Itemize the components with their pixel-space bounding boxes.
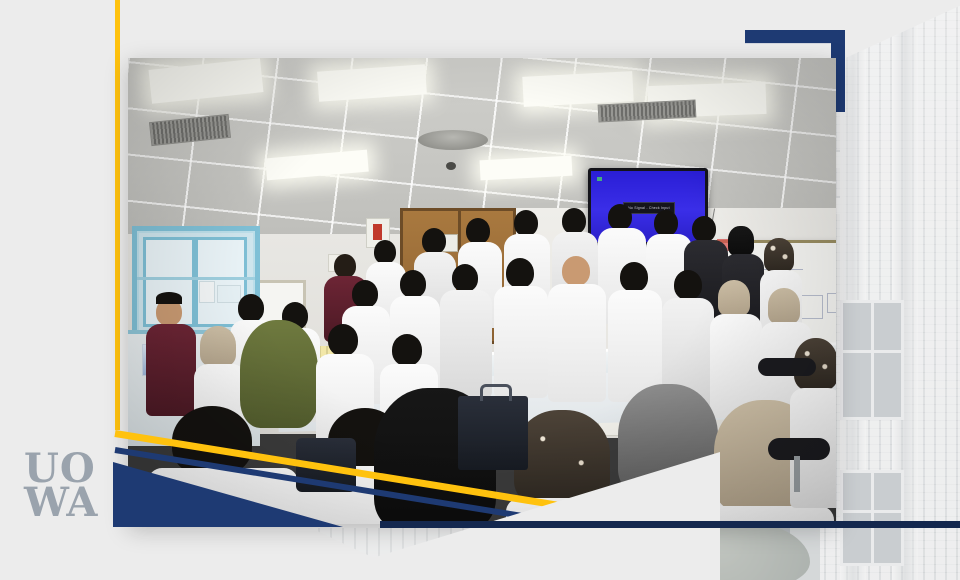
- person-head: [674, 270, 702, 300]
- person-head: [728, 226, 754, 256]
- whiteboard-diagram-box: [827, 293, 836, 313]
- logo-line-2: WA: [24, 486, 110, 520]
- person-head: [238, 294, 264, 322]
- person-head: [620, 262, 648, 292]
- person-torso: [146, 324, 196, 416]
- person-head: [562, 256, 590, 286]
- person-head: [352, 280, 378, 308]
- person-head: [608, 204, 632, 230]
- person-head: [400, 270, 426, 298]
- person-head: [514, 210, 538, 236]
- watermark-window: [840, 470, 904, 566]
- banner-canvas: No Signal - Check Input: [0, 0, 960, 580]
- person-head: [654, 210, 678, 236]
- briefcase: [458, 396, 528, 470]
- person-head: [422, 228, 446, 254]
- person-head: [506, 258, 534, 288]
- person-head: [334, 254, 356, 278]
- person-head: [718, 280, 750, 316]
- watermark-window: [840, 300, 904, 420]
- person-torso: [494, 286, 548, 398]
- chair-back: [758, 358, 816, 376]
- person-head: [768, 288, 800, 324]
- person-head: [466, 218, 490, 244]
- cabinet-shelf: [137, 277, 255, 280]
- cabinet-box: [217, 285, 241, 303]
- person-head: [452, 264, 478, 292]
- person-hijab: [240, 320, 318, 428]
- logo-uowa[interactable]: UO WA: [24, 452, 110, 536]
- navy-horizontal-rule: [380, 521, 960, 528]
- cabinet-bottle: [199, 281, 215, 303]
- chair-post: [794, 456, 800, 492]
- person-torso: [548, 284, 606, 402]
- security-camera-icon: [446, 162, 456, 170]
- person-head: [764, 238, 794, 272]
- person-head: [374, 240, 396, 264]
- person-head: [692, 216, 716, 242]
- ceiling-light-panel: [522, 71, 633, 107]
- person-hair: [156, 292, 182, 304]
- person-torso: [440, 290, 492, 398]
- ceiling-diffuser: [418, 130, 488, 150]
- tv-status-dot-icon: [597, 177, 602, 181]
- briefcase-handle: [480, 384, 512, 401]
- person-head: [562, 208, 586, 234]
- person-head: [200, 326, 236, 366]
- person-head: [328, 324, 358, 356]
- person-head: [392, 334, 422, 366]
- yellow-vertical-rule: [115, 0, 120, 430]
